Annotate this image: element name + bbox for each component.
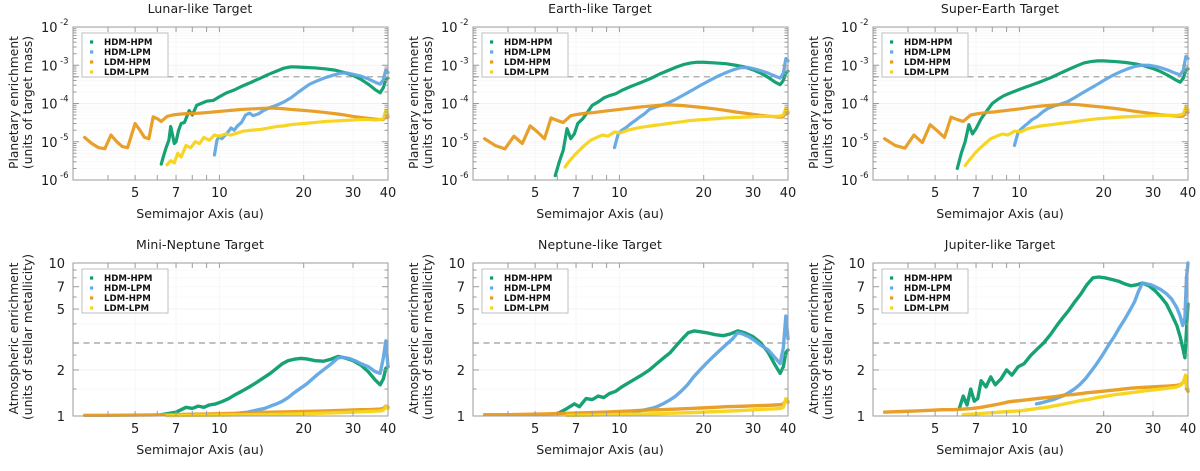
x-tick-label: 40 xyxy=(780,186,797,201)
chart-panel-neptune: Neptune-like TargetAtmospheric enrichmen… xyxy=(400,236,800,471)
legend-label-hdm_lpm: HDM-LPM xyxy=(904,284,951,294)
legend-label-ldm_lpm: LDM-LPM xyxy=(504,304,549,314)
y-tick-label: 1 xyxy=(457,410,465,425)
legend-label-hdm_hpm: HDM-HPM xyxy=(104,274,153,284)
y-tick-label-exponent: -5 xyxy=(60,133,69,143)
legend-label-hdm_lpm: HDM-LPM xyxy=(504,48,551,58)
x-tick-label: 10 xyxy=(211,186,228,201)
legend-label-hdm_lpm: HDM-LPM xyxy=(504,284,551,294)
y-tick-label: 10 xyxy=(441,174,458,189)
legend-label-hdm_hpm: HDM-HPM xyxy=(904,274,953,284)
legend: HDM-HPMHDM-LPMLDM-HPMLDM-LPM xyxy=(882,269,968,314)
x-tick-label: 7 xyxy=(972,186,980,201)
y-tick-label: 10 xyxy=(441,136,458,151)
y-tick-label-exponent: -3 xyxy=(460,56,469,66)
y-tick-label-exponent: -5 xyxy=(860,133,869,143)
legend-marker-ldm_lpm xyxy=(890,306,893,309)
y-tick-label: 7 xyxy=(57,281,65,296)
y-tick-label: 5 xyxy=(857,303,865,318)
x-tick-label: 7 xyxy=(972,422,980,437)
legend: HDM-HPMHDM-LPMLDM-HPMLDM-LPM xyxy=(482,33,568,78)
y-tick-label: 10 xyxy=(41,59,58,74)
x-tick-label: 20 xyxy=(1095,422,1112,437)
y-tick-label-exponent: -4 xyxy=(60,95,69,105)
x-tick-label: 10 xyxy=(611,422,628,437)
x-tick-label: 5 xyxy=(931,186,939,201)
legend-marker-hdm_hpm xyxy=(890,40,893,43)
plot-area-neptune: 5710203040125710HDM-HPMHDM-LPMLDM-HPMLDM… xyxy=(400,236,800,471)
x-tick-label: 10 xyxy=(211,422,228,437)
legend-marker-hdm_hpm xyxy=(90,40,93,43)
legend: HDM-HPMHDM-LPMLDM-HPMLDM-LPM xyxy=(82,269,168,314)
x-tick-label: 10 xyxy=(1011,422,1028,437)
figure-root: Lunar-like TargetPlanetary enrichment(un… xyxy=(0,0,1200,471)
x-tick-label: 7 xyxy=(172,422,180,437)
legend-label-ldm_lpm: LDM-LPM xyxy=(504,68,549,78)
x-tick-label: 40 xyxy=(1180,186,1197,201)
y-tick-label: 10 xyxy=(841,21,858,36)
y-tick-label: 10 xyxy=(448,257,465,272)
y-tick-label: 5 xyxy=(57,303,65,318)
legend-label-hdm_lpm: HDM-LPM xyxy=(904,48,951,58)
x-tick-label: 5 xyxy=(131,186,139,201)
legend-marker-hdm_hpm xyxy=(490,40,493,43)
y-tick-label: 7 xyxy=(857,281,865,296)
legend-marker-ldm_hpm xyxy=(890,296,893,299)
y-tick-label: 10 xyxy=(841,174,858,189)
legend: HDM-HPMHDM-LPMLDM-HPMLDM-LPM xyxy=(882,33,968,78)
y-tick-label-exponent: -2 xyxy=(60,18,69,28)
legend-label-hdm_lpm: HDM-LPM xyxy=(104,48,151,58)
y-tick-label-exponent: -4 xyxy=(460,95,469,105)
legend: HDM-HPMHDM-LPMLDM-HPMLDM-LPM xyxy=(82,33,168,78)
y-tick-label: 10 xyxy=(41,21,58,36)
y-tick-label: 1 xyxy=(57,410,65,425)
legend-marker-ldm_lpm xyxy=(90,70,93,73)
legend-marker-hdm_lpm xyxy=(90,50,93,53)
y-tick-label: 10 xyxy=(841,59,858,74)
legend-label-ldm_hpm: LDM-HPM xyxy=(104,58,151,68)
y-tick-label-exponent: -6 xyxy=(460,171,469,181)
plot-area-lunar: 571020304010-610-510-410-310-2HDM-HPMHDM… xyxy=(0,0,400,235)
x-tick-label: 30 xyxy=(345,422,362,437)
y-tick-label: 10 xyxy=(41,136,58,151)
x-tick-label: 40 xyxy=(380,186,397,201)
plot-area-earth: 571020304010-610-510-410-310-2HDM-HPMHDM… xyxy=(400,0,800,235)
legend-marker-hdm_hpm xyxy=(490,276,493,279)
x-tick-label: 20 xyxy=(295,186,312,201)
legend-marker-ldm_lpm xyxy=(890,70,893,73)
x-tick-label: 40 xyxy=(1180,422,1197,437)
legend-marker-ldm_lpm xyxy=(490,70,493,73)
plot-area-mini-neptune: 5710203040125710HDM-HPMHDM-LPMLDM-HPMLDM… xyxy=(0,236,400,471)
legend-label-hdm_lpm: HDM-LPM xyxy=(104,284,151,294)
y-tick-label: 7 xyxy=(457,281,465,296)
x-tick-label: 7 xyxy=(572,186,580,201)
x-tick-label: 30 xyxy=(1145,186,1162,201)
y-tick-label: 10 xyxy=(441,21,458,36)
legend-marker-hdm_lpm xyxy=(890,286,893,289)
chart-panel-lunar: Lunar-like TargetPlanetary enrichment(un… xyxy=(0,0,400,235)
y-tick-label: 10 xyxy=(441,98,458,113)
plot-area-super-earth: 571020304010-610-510-410-310-2HDM-HPMHDM… xyxy=(800,0,1200,235)
x-tick-label: 30 xyxy=(1145,422,1162,437)
y-tick-label-exponent: -4 xyxy=(860,95,869,105)
chart-panel-earth: Earth-like TargetPlanetary enrichment(un… xyxy=(400,0,800,235)
x-tick-label: 20 xyxy=(695,422,712,437)
legend-label-ldm_lpm: LDM-LPM xyxy=(104,68,149,78)
chart-panel-super-earth: Super-Earth TargetPlanetary enrichment(u… xyxy=(800,0,1200,235)
legend-marker-hdm_lpm xyxy=(90,286,93,289)
legend-label-ldm_lpm: LDM-LPM xyxy=(904,68,949,78)
x-tick-label: 40 xyxy=(380,422,397,437)
legend-marker-ldm_lpm xyxy=(490,306,493,309)
y-tick-label-exponent: -2 xyxy=(460,18,469,28)
y-tick-label: 1 xyxy=(857,410,865,425)
plot-area-jupiter: 5710203040125710HDM-HPMHDM-LPMLDM-HPMLDM… xyxy=(800,236,1200,471)
legend-label-hdm_hpm: HDM-HPM xyxy=(504,38,553,48)
legend-label-hdm_hpm: HDM-HPM xyxy=(104,38,153,48)
legend-marker-ldm_hpm xyxy=(490,60,493,63)
x-tick-label: 20 xyxy=(295,422,312,437)
y-tick-label: 10 xyxy=(841,98,858,113)
legend-marker-ldm_lpm xyxy=(90,306,93,309)
legend-label-ldm_lpm: LDM-LPM xyxy=(904,304,949,314)
legend-marker-ldm_hpm xyxy=(90,60,93,63)
x-tick-label: 10 xyxy=(611,186,628,201)
x-tick-label: 5 xyxy=(531,186,539,201)
y-tick-label: 10 xyxy=(41,98,58,113)
y-tick-label: 10 xyxy=(441,59,458,74)
chart-panel-jupiter: Jupiter-like TargetAtmospheric enrichmen… xyxy=(800,236,1200,471)
x-tick-label: 30 xyxy=(745,186,762,201)
y-tick-label: 10 xyxy=(841,136,858,151)
y-tick-label-exponent: -3 xyxy=(860,56,869,66)
x-tick-label: 5 xyxy=(531,422,539,437)
x-tick-label: 20 xyxy=(695,186,712,201)
x-tick-label: 30 xyxy=(345,186,362,201)
x-tick-label: 5 xyxy=(931,422,939,437)
legend-marker-hdm_lpm xyxy=(890,50,893,53)
y-tick-label-exponent: -6 xyxy=(860,171,869,181)
y-tick-label-exponent: -5 xyxy=(460,133,469,143)
y-tick-label-exponent: -6 xyxy=(60,171,69,181)
y-tick-label-exponent: -2 xyxy=(860,18,869,28)
legend-marker-ldm_hpm xyxy=(90,296,93,299)
y-tick-label: 2 xyxy=(857,364,865,379)
legend-marker-ldm_hpm xyxy=(890,60,893,63)
x-tick-label: 7 xyxy=(172,186,180,201)
legend-label-ldm_hpm: LDM-HPM xyxy=(504,294,551,304)
legend-marker-hdm_hpm xyxy=(90,276,93,279)
x-tick-label: 40 xyxy=(780,422,797,437)
legend-marker-hdm_lpm xyxy=(490,50,493,53)
y-tick-label-exponent: -3 xyxy=(60,56,69,66)
legend-label-ldm_hpm: LDM-HPM xyxy=(904,294,951,304)
legend-label-ldm_hpm: LDM-HPM xyxy=(104,294,151,304)
x-tick-label: 10 xyxy=(1011,186,1028,201)
y-tick-label: 10 xyxy=(848,257,865,272)
x-tick-label: 7 xyxy=(572,422,580,437)
y-tick-label: 10 xyxy=(41,174,58,189)
legend-marker-hdm_hpm xyxy=(890,276,893,279)
legend: HDM-HPMHDM-LPMLDM-HPMLDM-LPM xyxy=(482,269,568,314)
legend-label-ldm_hpm: LDM-HPM xyxy=(504,58,551,68)
y-tick-label: 2 xyxy=(457,364,465,379)
legend-label-ldm_hpm: LDM-HPM xyxy=(904,58,951,68)
chart-panel-mini-neptune: Mini-Neptune TargetAtmospheric enrichmen… xyxy=(0,236,400,471)
legend-label-ldm_lpm: LDM-LPM xyxy=(104,304,149,314)
y-tick-label: 2 xyxy=(57,364,65,379)
y-tick-label: 5 xyxy=(457,303,465,318)
legend-marker-hdm_lpm xyxy=(490,286,493,289)
legend-label-hdm_hpm: HDM-HPM xyxy=(504,274,553,284)
legend-label-hdm_hpm: HDM-HPM xyxy=(904,38,953,48)
x-tick-label: 20 xyxy=(1095,186,1112,201)
x-tick-label: 30 xyxy=(745,422,762,437)
legend-marker-ldm_hpm xyxy=(490,296,493,299)
x-tick-label: 5 xyxy=(131,422,139,437)
y-tick-label: 10 xyxy=(48,257,65,272)
